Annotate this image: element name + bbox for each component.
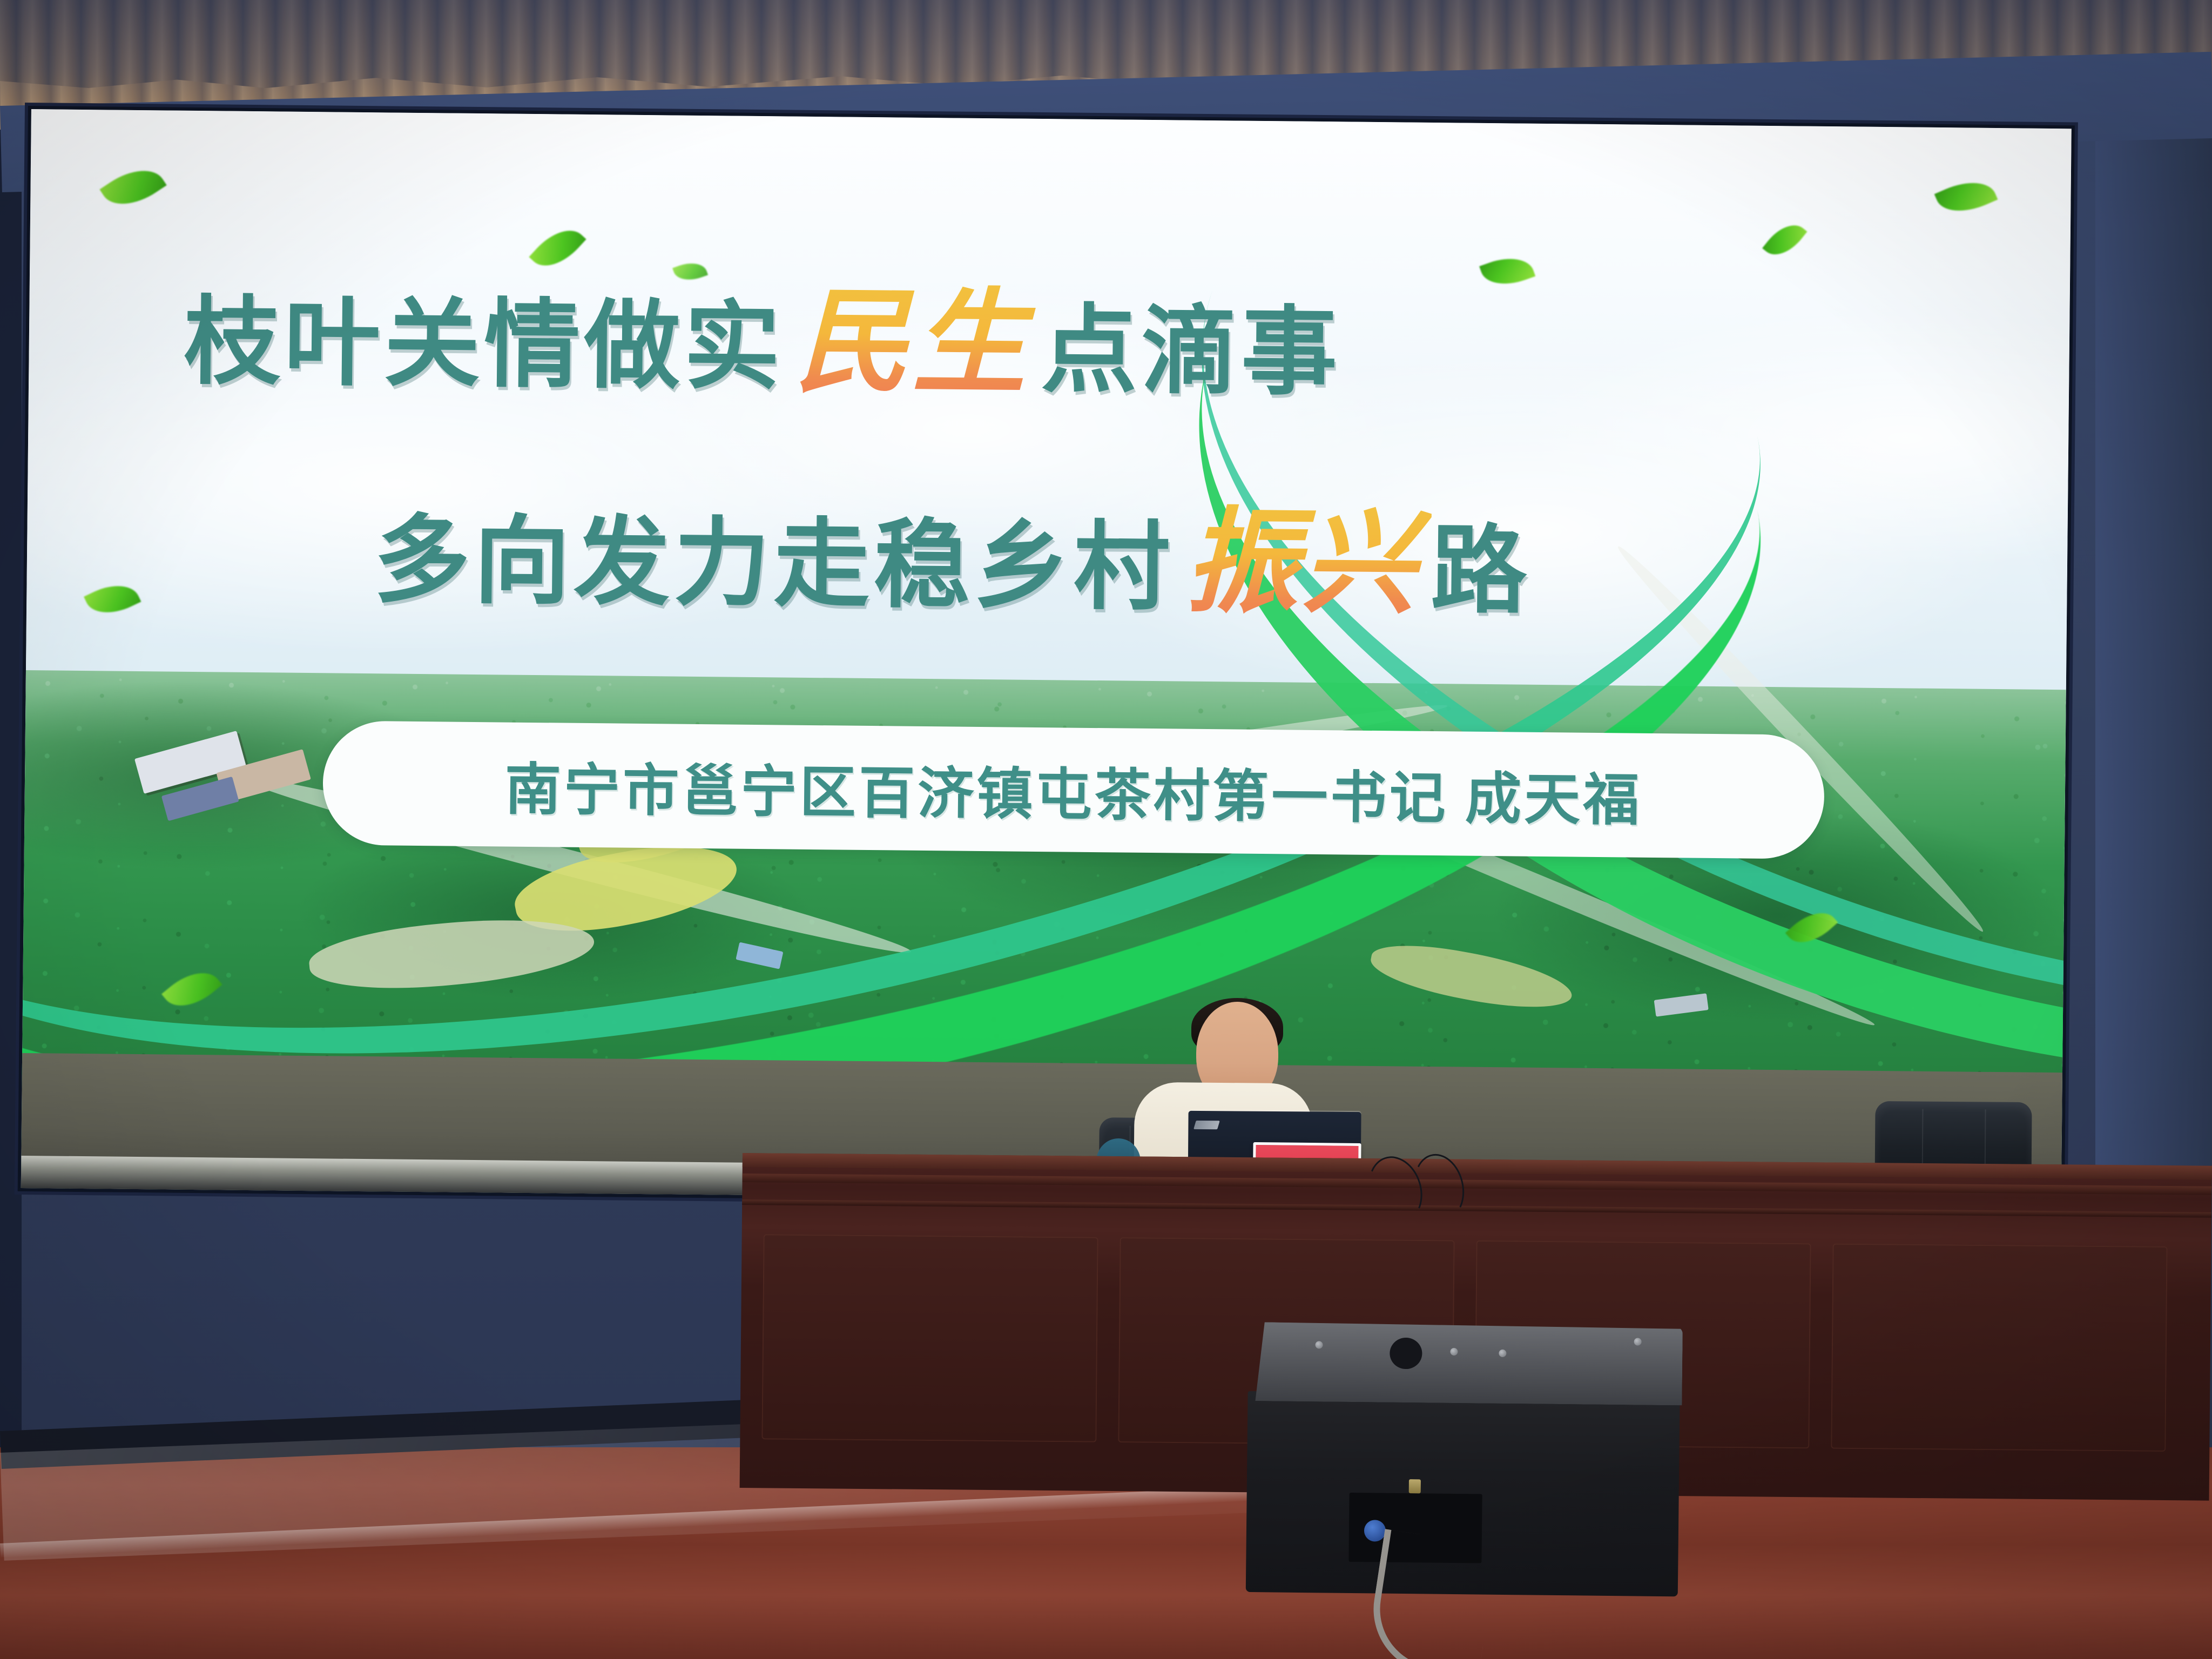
speakon-connector — [1364, 1520, 1386, 1541]
headline-line2-part2: 路 — [1430, 517, 1531, 625]
slide-headline-line-1: 枝叶关情做实民生点滴事 — [184, 244, 1342, 419]
slide-headline-line-2: 多向发力走稳乡村振兴路 — [373, 462, 1532, 638]
speaker-screw — [1315, 1341, 1323, 1348]
slide-speaker-banner: 南宁市邕宁区百济镇屯茶村第一书记 成天福 — [322, 720, 1825, 859]
stage-monitor-speaker — [1246, 1322, 1686, 1596]
conference-stage-photo: 枝叶关情做实民生点滴事 多向发力走稳乡村振兴路 南宁市邕宁区百济镇屯茶村第一书记… — [0, 0, 2212, 1659]
headline-line1-highlight: 民生 — [784, 280, 1042, 408]
speaker-front-face — [1246, 1391, 1680, 1596]
slide-speaker-banner-text: 南宁市邕宁区百济镇屯茶村第一书记 成天福 — [504, 744, 1642, 836]
headline-line2-highlight: 振兴 — [1173, 501, 1432, 629]
headline-line1-part1: 枝叶关情做实 — [184, 289, 785, 402]
speaker-screw — [1499, 1350, 1506, 1357]
laptop-logo-icon — [1193, 1121, 1220, 1129]
speaker-handle-hole — [1390, 1338, 1422, 1370]
table-rail-lower — [742, 1199, 2211, 1218]
speaker-brand-badge-icon — [1409, 1479, 1421, 1493]
speaker-screw — [1634, 1338, 1642, 1345]
led-screen-frame: 枝叶关情做实民生点滴事 多向发力走稳乡村振兴路 南宁市邕宁区百济镇屯茶村第一书记… — [18, 106, 2075, 1211]
table-panel — [1831, 1244, 2167, 1452]
wall-left-edge — [0, 0, 22, 1458]
headline-line1-part2: 点滴事 — [1041, 297, 1341, 407]
headline-line2-part1: 多向发力走稳乡村 — [373, 508, 1174, 622]
led-screen: 枝叶关情做实民生点滴事 多向发力走稳乡村振兴路 南宁市邕宁区百济镇屯茶村第一书记… — [21, 109, 2072, 1208]
table-panel — [761, 1234, 1098, 1442]
speaker-cable — [1365, 1529, 1498, 1659]
speaker-screw — [1450, 1348, 1458, 1355]
speaker-top-bevel — [1255, 1322, 1682, 1405]
